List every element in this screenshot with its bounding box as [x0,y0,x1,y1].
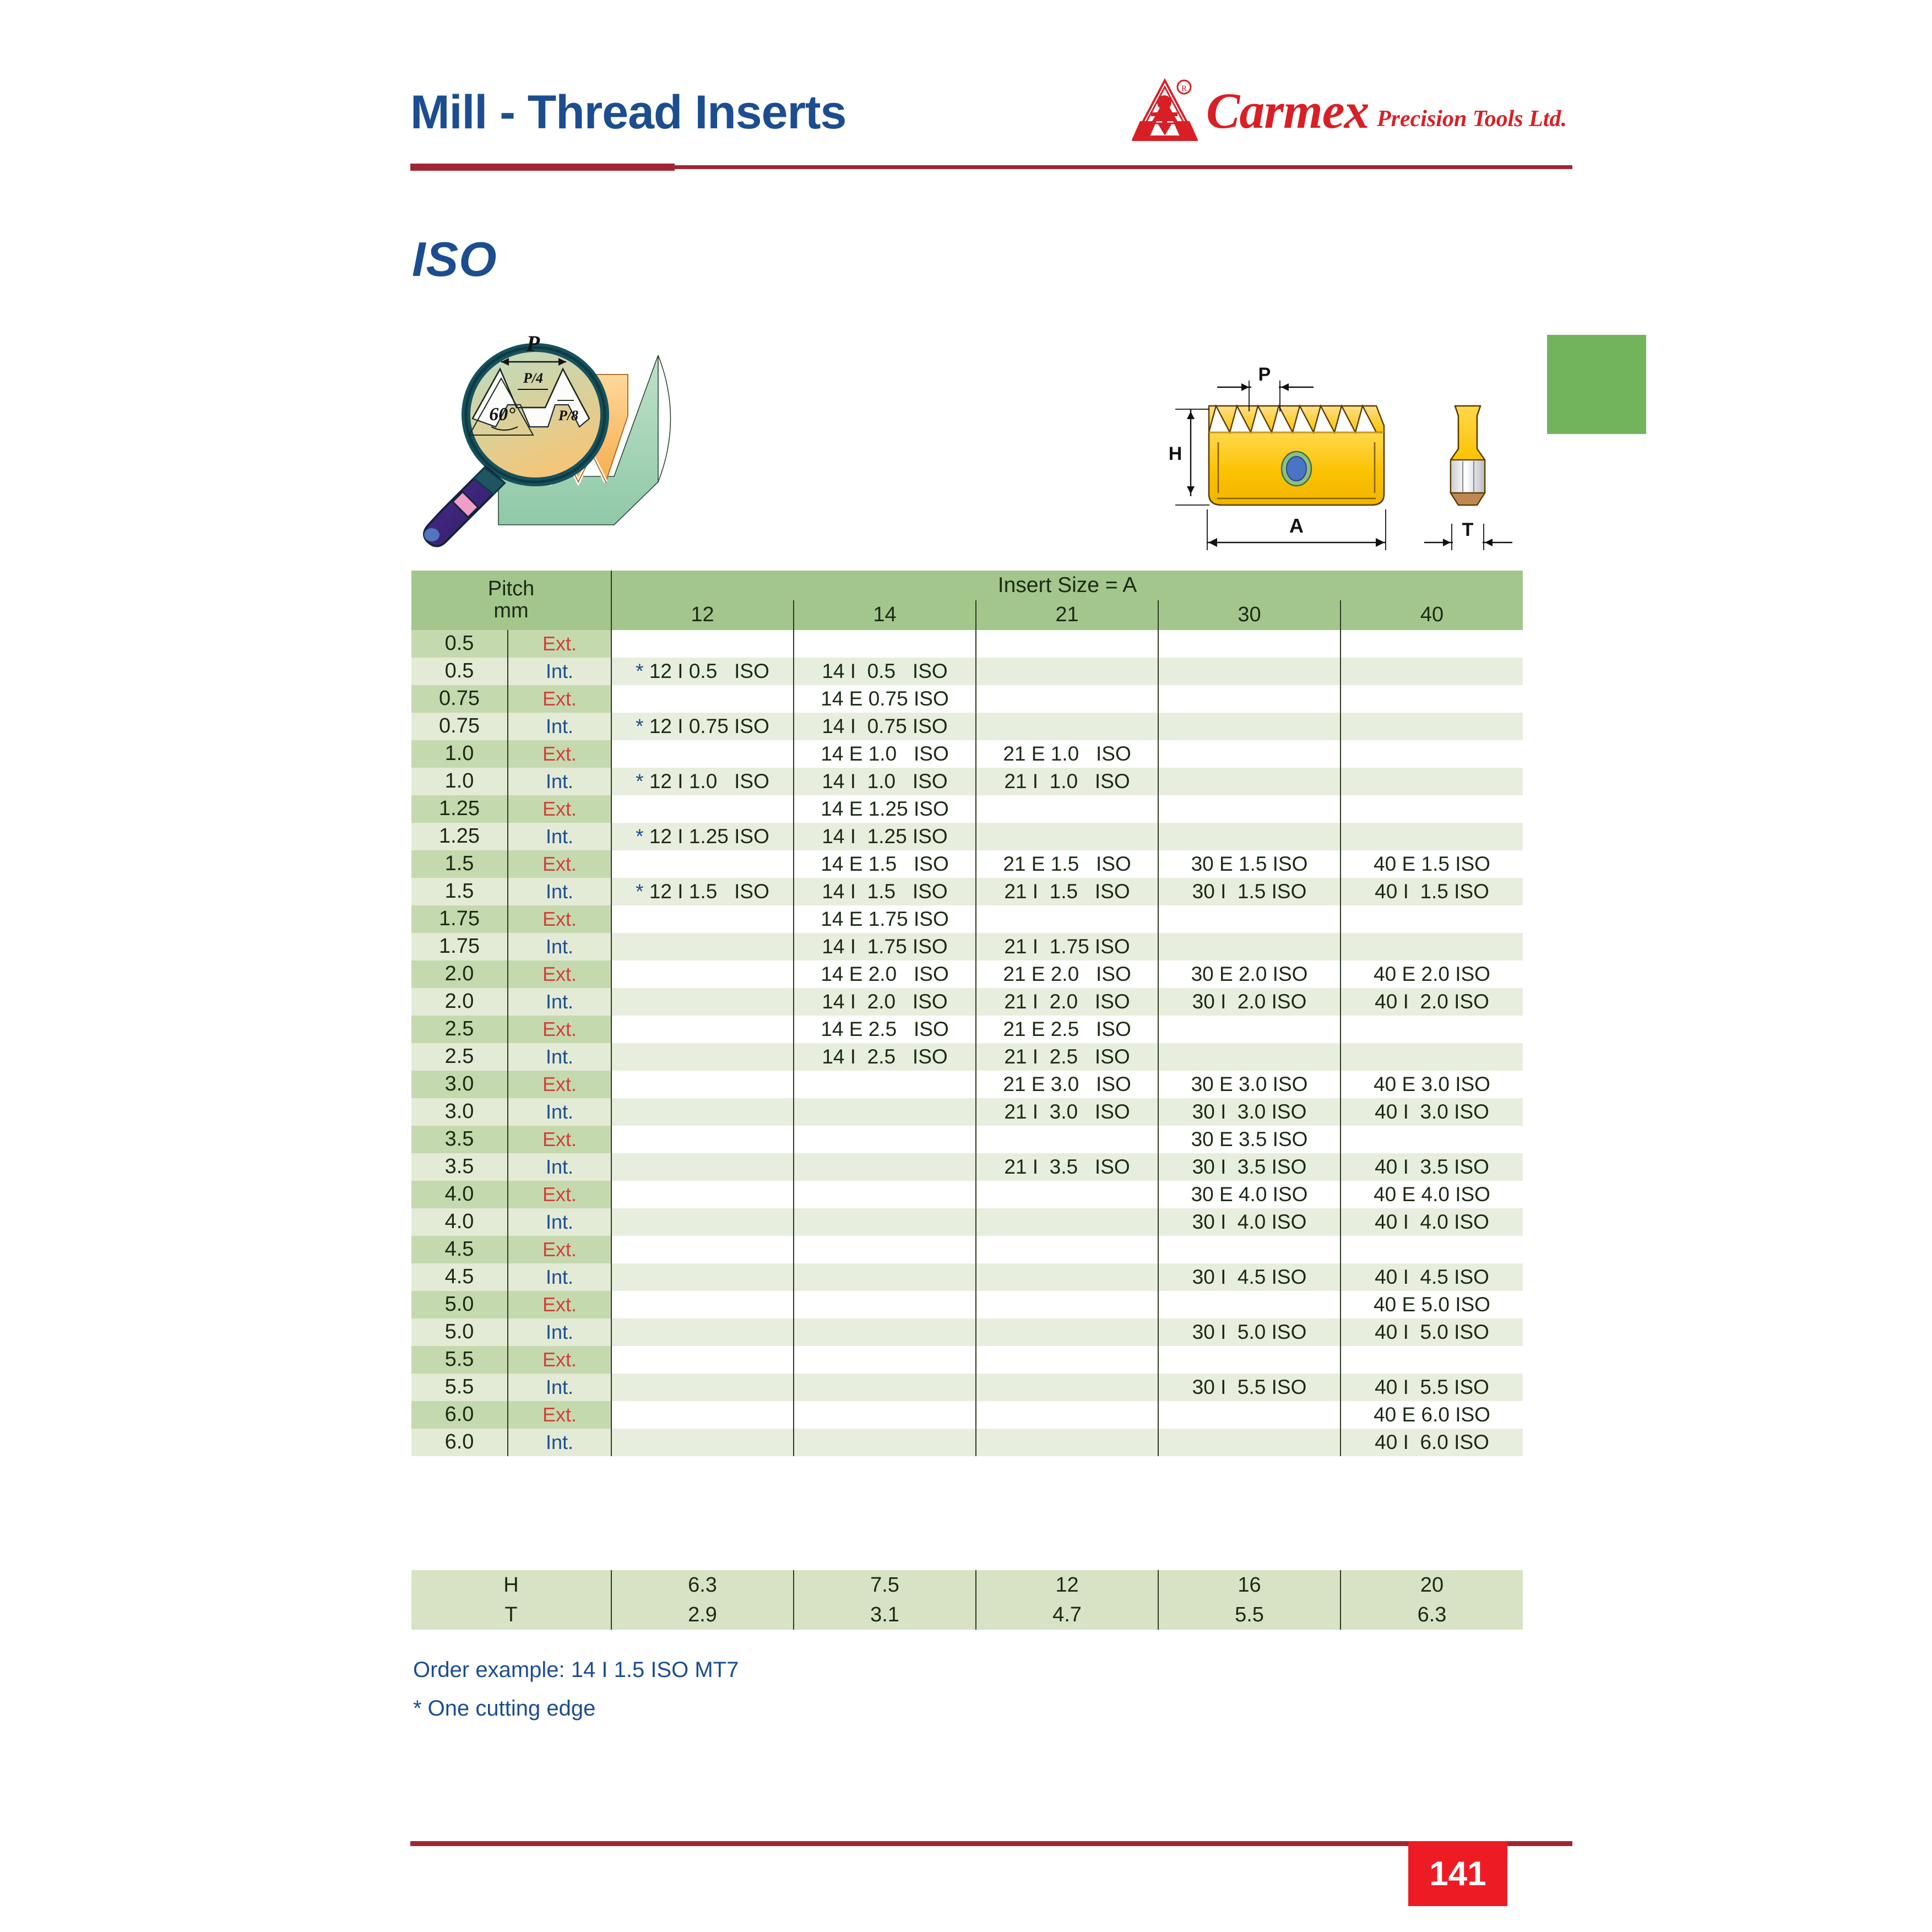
insert-code-cell [1341,1043,1523,1071]
insert-code-cell: 14 E 1.25 ISO [794,795,976,823]
insert-code-cell [976,905,1158,933]
page-number-badge: 141 [1408,1841,1507,1906]
dimension-T: T [1424,519,1512,550]
type-external: Ext. [508,1236,611,1263]
insert-code-cell [1158,685,1341,713]
pitch-value: 2.0 [411,988,508,1016]
insert-code-cell [611,850,794,878]
insert-code-cell [1341,630,1523,658]
pitch-header-line1: Pitch [411,578,611,600]
type-internal: Int. [508,713,611,740]
insert-dimension-diagram: P H A T [1157,361,1553,565]
insert-code-cell [611,988,794,1016]
dimension-label: H [411,1570,611,1600]
insert-code-cell [794,1429,976,1456]
insert-code-cell: 21 E 2.0 ISO [976,960,1158,988]
table-row: 1.0Ext.14 E 1.0 ISO21 E 1.0 ISO [411,740,1523,768]
table-row: 1.75Int.14 I 1.75 ISO21 I 1.75 ISO [411,933,1523,960]
insert-code-cell [1158,823,1341,850]
insert-code-cell [976,1374,1158,1401]
type-internal: Int. [508,768,611,795]
dimension-value: 6.3 [1341,1600,1523,1630]
pitch-value: 2.0 [411,960,508,988]
insert-code-cell: 30 I 3.5 ISO [1158,1153,1341,1181]
label-angle-60: 60° [489,404,515,425]
insert-code-cell [611,960,794,988]
insert-code-cell [1158,905,1341,933]
insert-code-cell [1158,795,1341,823]
table-row: 6.0Int.40 I 6.0 ISO [411,1429,1523,1456]
table-row: 5.5Int.30 I 5.5 ISO40 I 5.5 ISO [411,1374,1523,1401]
insert-code-cell: 30 I 2.0 ISO [1158,988,1341,1016]
insert-code-cell: 30 E 3.0 ISO [1158,1071,1341,1098]
pitch-value: 5.5 [411,1346,508,1374]
insert-code-cell: 21 E 2.5 ISO [976,1016,1158,1043]
insert-code-cell: 40 E 6.0 ISO [1341,1401,1523,1429]
dimension-value: 16 [1158,1570,1341,1600]
table-row: 4.5Int.30 I 4.5 ISO40 I 4.5 ISO [411,1263,1523,1291]
insert-code-cell [1341,1346,1523,1374]
dimension-row: H6.37.5121620 [411,1570,1523,1600]
pitch-value: 6.0 [411,1401,508,1429]
label-insert-A: A [1289,514,1304,537]
insert-code-cell [1341,685,1523,713]
insert-code-cell [976,630,1158,658]
insert-code-cell [1158,1291,1341,1318]
insert-code-cell: 21 E 1.5 ISO [976,850,1158,878]
insert-code-cell [794,1374,976,1401]
insert-code-cell [794,630,976,658]
insert-code-cell [1158,768,1341,795]
insert-code-cell: 21 I 1.5 ISO [976,878,1158,905]
pitch-header: Pitch mm [411,571,611,630]
insert-code-cell [1341,768,1523,795]
footer-rule [410,1841,1572,1846]
pitch-value: 3.0 [411,1071,508,1098]
pitch-value: 4.5 [411,1263,508,1291]
insert-code-cell: 14 I 1.25 ISO [794,823,976,850]
type-internal: Int. [508,878,611,905]
insert-code-cell [1158,1236,1341,1263]
type-internal: Int. [508,823,611,850]
insert-code-cell [1158,713,1341,740]
pitch-value: 4.0 [411,1181,508,1208]
type-external: Ext. [508,1346,611,1374]
insert-code-cell: * 12 I 0.5 ISO [611,658,794,685]
insert-code-cell: 14 I 1.5 ISO [794,878,976,905]
insert-code-cell: 21 I 1.75 ISO [976,933,1158,960]
insert-code-cell: 30 I 5.5 ISO [1158,1374,1341,1401]
insert-code-cell [976,1236,1158,1263]
size-col-14: 14 [794,600,976,630]
type-external: Ext. [508,1181,611,1208]
table-row: 2.5Int.14 I 2.5 ISO21 I 2.5 ISO [411,1043,1523,1071]
insert-code-cell [1341,740,1523,768]
insert-code-cell: 14 I 0.75 ISO [794,713,976,740]
insert-code-cell [1158,1429,1341,1456]
insert-code-cell [1341,1126,1523,1153]
logo-subtitle: Precision Tools Ltd. [1377,106,1567,132]
insert-size-header: Insert Size = A [611,571,1523,600]
insert-code-cell: 21 E 3.0 ISO [976,1071,1158,1098]
insert-code-cell [611,1429,794,1456]
insert-code-cell [611,1401,794,1429]
type-internal: Int. [508,1208,611,1236]
table-row: 1.5Ext.14 E 1.5 ISO21 E 1.5 ISO30 E 1.5 … [411,850,1523,878]
table-row: 4.5Ext. [411,1236,1523,1263]
insert-code-cell [1158,1401,1341,1429]
pitch-value: 4.5 [411,1236,508,1263]
one-cutting-edge-marker: * [636,880,643,903]
insert-code-cell [611,1153,794,1181]
insert-code-cell [976,658,1158,685]
insert-code-cell [611,905,794,933]
type-internal: Int. [508,1263,611,1291]
insert-code-cell: 14 E 1.75 ISO [794,905,976,933]
type-external: Ext. [508,1071,611,1098]
table-body: 0.5Ext.0.5Int.* 12 I 0.5 ISO14 I 0.5 ISO… [411,630,1523,1456]
insert-code-cell: 40 I 5.0 ISO [1341,1318,1523,1346]
table-row: 3.0Int.21 I 3.0 ISO30 I 3.0 ISO40 I 3.0 … [411,1098,1523,1126]
type-internal: Int. [508,1429,611,1456]
insert-code-cell [1158,933,1341,960]
logo-wordmark: Carmex [1206,82,1369,140]
insert-code-cell: 40 I 1.5 ISO [1341,878,1523,905]
section-color-tab [1547,335,1646,434]
insert-code-cell [976,1346,1158,1374]
insert-code-cell: 40 E 1.5 ISO [1341,850,1523,878]
label-insert-H: H [1169,443,1182,464]
insert-code-cell: 14 E 2.5 ISO [794,1016,976,1043]
insert-code-cell: 14 E 0.75 ISO [794,685,976,713]
type-internal: Int. [508,658,611,685]
insert-code-cell [611,1043,794,1071]
insert-code-cell [1158,1346,1341,1374]
pitch-value: 1.75 [411,933,508,960]
insert-code-cell: 30 I 5.0 ISO [1158,1318,1341,1346]
pitch-value: 0.75 [411,685,508,713]
insert-code-cell [611,1071,794,1098]
dimension-A: A [1207,509,1386,550]
pitch-value: 0.5 [411,658,508,685]
insert-code-cell [976,1208,1158,1236]
pitch-value: 3.5 [411,1126,508,1153]
table-row: 4.0Int.30 I 4.0 ISO40 I 4.0 ISO [411,1208,1523,1236]
label-insert-T: T [1462,519,1474,540]
insert-code-cell: 30 E 3.5 ISO [1158,1126,1341,1153]
pitch-value: 1.5 [411,878,508,905]
insert-code-cell [611,1208,794,1236]
insert-code-cell [1341,713,1523,740]
insert-code-cell [611,1374,794,1401]
insert-code-cell [611,1098,794,1126]
insert-code-cell [794,1126,976,1153]
insert-code-cell [611,1263,794,1291]
section-title: ISO [412,231,497,287]
thread-profile-illustration: P P/4 P/8 60° [408,317,705,553]
type-external: Ext. [508,850,611,878]
insert-code-cell [1158,630,1341,658]
insert-code-cell [611,933,794,960]
type-external: Ext. [508,740,611,768]
pitch-value: 3.5 [411,1153,508,1181]
header-rule-accent [410,164,675,171]
pitch-value: 1.0 [411,740,508,768]
type-external: Ext. [508,1291,611,1318]
insert-code-cell [976,1429,1158,1456]
type-external: Ext. [508,1016,611,1043]
insert-code-cell: 14 I 2.5 ISO [794,1043,976,1071]
table-row: 5.5Ext. [411,1346,1523,1374]
insert-code-cell: 14 I 2.0 ISO [794,988,976,1016]
svg-text:R: R [1181,84,1187,93]
table-row: 5.0Ext.40 E 5.0 ISO [411,1291,1523,1318]
label-p8: P/8 [558,408,578,424]
dimension-value: 7.5 [794,1570,976,1600]
dimension-H: H [1169,409,1209,505]
insert-code-cell [976,795,1158,823]
one-cutting-edge-marker: * [636,770,643,793]
type-internal: Int. [508,988,611,1016]
pitch-value: 1.25 [411,795,508,823]
insert-code-cell: * 12 I 1.0 ISO [611,768,794,795]
insert-code-cell [976,1263,1158,1291]
pitch-value: 1.25 [411,823,508,850]
insert-code-cell: 21 I 2.5 ISO [976,1043,1158,1071]
insert-code-cell: * 12 I 0.75 ISO [611,713,794,740]
dimensions-table-body: H6.37.5121620T2.93.14.75.56.3 [411,1570,1523,1630]
type-internal: Int. [508,1374,611,1401]
label-p4: P/4 [523,370,543,386]
dimensions-table: H6.37.5121620T2.93.14.75.56.3 [411,1570,1523,1630]
pitch-value: 3.0 [411,1098,508,1126]
table-row: 0.5Ext. [411,630,1523,658]
type-external: Ext. [508,1401,611,1429]
table-row: 2.0Ext.14 E 2.0 ISO21 E 2.0 ISO30 E 2.0 … [411,960,1523,988]
cutting-edge-note: * One cutting edge [413,1696,595,1721]
table-row: 1.5Int.* 12 I 1.5 ISO14 I 1.5 ISO21 I 1.… [411,878,1523,905]
dimension-value: 5.5 [1158,1600,1341,1630]
dimension-value: 2.9 [611,1600,794,1630]
insert-code-cell [1158,740,1341,768]
carmex-triangle-logo-icon: R [1129,78,1201,149]
insert-selection-table: Pitch mm Insert Size = A 12 14 21 30 40 … [411,571,1523,1456]
dimension-value: 3.1 [794,1600,976,1630]
label-insert-P: P [1258,364,1271,385]
one-cutting-edge-marker: * [636,825,643,848]
table-row: 3.5Int.21 I 3.5 ISO30 I 3.5 ISO40 I 3.5 … [411,1153,1523,1181]
insert-code-cell [794,1263,976,1291]
insert-code-cell: 40 I 4.0 ISO [1341,1208,1523,1236]
table-header-row-1: Pitch mm Insert Size = A [411,571,1523,600]
insert-code-cell: 14 E 2.0 ISO [794,960,976,988]
type-internal: Int. [508,1318,611,1346]
dimension-value: 4.7 [976,1600,1158,1630]
insert-code-cell: * 12 I 1.5 ISO [611,878,794,905]
type-external: Ext. [508,685,611,713]
insert-code-cell [1158,1043,1341,1071]
table-row: 2.5Ext.14 E 2.5 ISO21 E 2.5 ISO [411,1016,1523,1043]
insert-code-cell: 14 I 1.75 ISO [794,933,976,960]
insert-code-cell [1341,1236,1523,1263]
insert-code-cell [976,1401,1158,1429]
insert-code-cell: 40 I 2.0 ISO [1341,988,1523,1016]
insert-code-cell: 40 I 4.5 ISO [1341,1263,1523,1291]
pitch-value: 6.0 [411,1429,508,1456]
pitch-value: 5.5 [411,1374,508,1401]
size-col-12: 12 [611,600,794,630]
insert-code-cell: 40 I 6.0 ISO [1341,1429,1523,1456]
table-row: 0.75Ext.14 E 0.75 ISO [411,685,1523,713]
pitch-value: 1.0 [411,768,508,795]
insert-side-view [1451,406,1485,505]
table-row: 1.0Int.* 12 I 1.0 ISO14 I 1.0 ISO21 I 1.… [411,768,1523,795]
table-row: 4.0Ext.30 E 4.0 ISO40 E 4.0 ISO [411,1181,1523,1208]
insert-code-cell [794,1291,976,1318]
pitch-value: 4.0 [411,1208,508,1236]
insert-code-cell [794,1098,976,1126]
type-external: Ext. [508,630,611,658]
insert-code-cell: 21 I 2.0 ISO [976,988,1158,1016]
pitch-value: 0.5 [411,630,508,658]
dimension-label: T [411,1600,611,1630]
insert-code-cell [794,1208,976,1236]
table-row: 6.0Ext.40 E 6.0 ISO [411,1401,1523,1429]
insert-code-cell [1341,658,1523,685]
insert-code-cell: 14 E 1.5 ISO [794,850,976,878]
carmex-logo: R Carmex Precision Tools Ltd. [1124,77,1575,154]
insert-code-cell [1341,1016,1523,1043]
insert-code-cell: 21 I 3.5 ISO [976,1153,1158,1181]
insert-code-cell: 30 I 4.5 ISO [1158,1263,1341,1291]
insert-code-cell [611,1016,794,1043]
table-row: 2.0Int.14 I 2.0 ISO21 I 2.0 ISO30 I 2.0 … [411,988,1523,1016]
insert-code-cell [794,1153,976,1181]
insert-code-cell [976,1126,1158,1153]
insert-code-cell: 40 I 3.5 ISO [1341,1153,1523,1181]
insert-code-cell: 40 E 4.0 ISO [1341,1181,1523,1208]
insert-code-cell [1341,933,1523,960]
insert-code-cell [1158,658,1341,685]
insert-code-cell: 21 I 1.0 ISO [976,768,1158,795]
insert-code-cell [976,713,1158,740]
table-row: 0.5Int.* 12 I 0.5 ISO14 I 0.5 ISO [411,658,1523,685]
dimension-row: T2.93.14.75.56.3 [411,1600,1523,1630]
insert-code-cell: 21 I 3.0 ISO [976,1098,1158,1126]
order-example-note: Order example: 14 I 1.5 ISO MT7 [413,1658,739,1683]
type-external: Ext. [508,1126,611,1153]
insert-code-cell [611,1236,794,1263]
insert-code-cell: 14 I 0.5 ISO [794,658,976,685]
insert-code-cell [611,1318,794,1346]
insert-code-cell [611,795,794,823]
insert-code-cell: * 12 I 1.25 ISO [611,823,794,850]
insert-code-cell: 14 E 1.0 ISO [794,740,976,768]
size-col-40: 40 [1341,600,1523,630]
insert-code-cell: 40 I 5.5 ISO [1341,1374,1523,1401]
type-external: Ext. [508,960,611,988]
table-row: 1.25Ext.14 E 1.25 ISO [411,795,1523,823]
dimension-value: 12 [976,1570,1158,1600]
insert-code-cell: 40 E 5.0 ISO [1341,1291,1523,1318]
insert-code-cell [794,1071,976,1098]
insert-code-cell: 30 E 4.0 ISO [1158,1181,1341,1208]
insert-code-cell: 30 I 3.0 ISO [1158,1098,1341,1126]
dimension-P: P [1217,364,1314,411]
insert-code-cell [611,685,794,713]
pitch-value: 0.75 [411,713,508,740]
catalog-page: Mill - Thread Inserts R Carmex Precision… [0,0,1932,1932]
insert-code-cell: 40 E 2.0 ISO [1341,960,1523,988]
type-external: Ext. [508,905,611,933]
pitch-value: 5.0 [411,1318,508,1346]
table-row: 5.0Int.30 I 5.0 ISO40 I 5.0 ISO [411,1318,1523,1346]
size-col-30: 30 [1158,600,1341,630]
table-row: 3.0Ext.21 E 3.0 ISO30 E 3.0 ISO40 E 3.0 … [411,1071,1523,1098]
insert-code-cell [794,1181,976,1208]
insert-code-cell [976,1181,1158,1208]
insert-code-cell [976,1318,1158,1346]
pitch-value: 2.5 [411,1016,508,1043]
type-internal: Int. [508,1153,611,1181]
insert-code-cell [1341,823,1523,850]
insert-code-cell [976,823,1158,850]
insert-code-cell [1341,795,1523,823]
insert-code-cell: 40 I 3.0 ISO [1341,1098,1523,1126]
insert-code-cell [794,1318,976,1346]
one-cutting-edge-marker: * [636,715,643,737]
insert-code-cell [1158,1016,1341,1043]
pitch-header-line2: mm [411,600,611,622]
size-col-21: 21 [976,600,1158,630]
insert-code-cell: 14 I 1.0 ISO [794,768,976,795]
table-row: 1.75Ext.14 E 1.75 ISO [411,905,1523,933]
type-external: Ext. [508,795,611,823]
label-pitch-P: P [526,331,540,356]
type-internal: Int. [508,1043,611,1071]
insert-code-cell: 30 E 2.0 ISO [1158,960,1341,988]
type-internal: Int. [508,933,611,960]
insert-code-cell [976,685,1158,713]
dimension-value: 6.3 [611,1570,794,1600]
table-row: 3.5Ext.30 E 3.5 ISO [411,1126,1523,1153]
insert-code-cell [794,1236,976,1263]
insert-code-cell: 30 I 4.0 ISO [1158,1208,1341,1236]
pitch-value: 1.75 [411,905,508,933]
type-internal: Int. [508,1098,611,1126]
insert-code-cell [611,1346,794,1374]
insert-code-cell [611,740,794,768]
insert-code-cell: 30 I 1.5 ISO [1158,878,1341,905]
insert-code-cell [794,1401,976,1429]
insert-code-cell: 21 E 1.0 ISO [976,740,1158,768]
insert-code-cell [976,1291,1158,1318]
pitch-value: 2.5 [411,1043,508,1071]
one-cutting-edge-marker: * [636,660,643,682]
insert-code-cell [611,1291,794,1318]
page-title: Mill - Thread Inserts [410,85,846,140]
insert-code-cell [611,1181,794,1208]
insert-code-cell: 40 E 3.0 ISO [1341,1071,1523,1098]
table-row: 0.75Int.* 12 I 0.75 ISO14 I 0.75 ISO [411,713,1523,740]
insert-code-cell [794,1346,976,1374]
insert-code-cell [611,1126,794,1153]
pitch-value: 5.0 [411,1291,508,1318]
insert-code-cell [1341,905,1523,933]
insert-front-view [1209,406,1384,505]
dimension-value: 20 [1341,1570,1523,1600]
pitch-value: 1.5 [411,850,508,878]
